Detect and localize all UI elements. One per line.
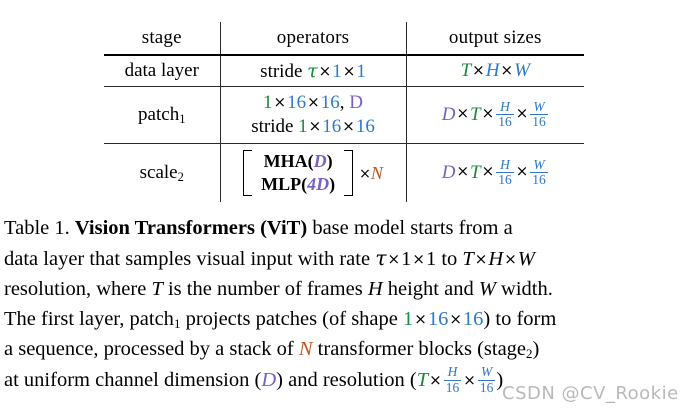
fraction-denominator: 16	[496, 114, 514, 129]
caption-text: is the number of frames	[163, 278, 368, 300]
out-D: D	[442, 161, 456, 182]
transformer-block-bracket: MHA(D) MLP(4D) ×N	[221, 150, 406, 197]
caption-H: H	[368, 278, 383, 300]
table-row: scale2 MHA(D) MLP(4D) ×N D×T×H16×W16	[104, 144, 584, 203]
caption-line-6: at uniform channel dimension (D) and res…	[4, 366, 688, 397]
caption-one: 1	[401, 248, 411, 270]
fraction-numerator: H	[444, 365, 462, 379]
op-16-b: 16	[356, 116, 375, 137]
header-stage: stage	[104, 22, 220, 55]
operators-cell-data-layer: stride τ×1×1	[220, 55, 406, 87]
times-icon: ×	[387, 250, 402, 268]
times-icon: ×	[306, 93, 321, 111]
stage-label-subscript: 1	[179, 112, 185, 126]
caption-16: 16	[463, 308, 484, 330]
times-icon: ×	[342, 62, 357, 80]
caption-text: a sequence, processed by a stack of	[4, 338, 299, 360]
times-icon: ×	[474, 250, 489, 268]
caption-N: N	[299, 338, 313, 360]
bracket-right-icon	[344, 150, 353, 196]
times-icon: ×	[273, 93, 288, 111]
out-T: T	[461, 60, 472, 81]
operators-cell-scale2: MHA(D) MLP(4D) ×N	[220, 144, 406, 203]
times-icon: ×	[455, 162, 470, 180]
caption-text: ) to form	[483, 308, 556, 330]
vit-spec-table: stage operators output sizes data layer …	[104, 22, 584, 202]
out-T: T	[470, 103, 481, 124]
mlp-label: MLP(	[261, 174, 307, 194]
mha-arg-D: D	[314, 151, 327, 171]
stage-label-text: patch	[138, 104, 179, 125]
times-icon: ×	[515, 162, 530, 180]
times-icon: ×	[481, 162, 496, 180]
fraction-numerator: H	[496, 100, 514, 114]
fraction-w-over-16: W16	[478, 365, 496, 394]
out-T: T	[470, 161, 481, 182]
caption-subscript: 2	[526, 346, 533, 361]
operators-cell-patch1: 1×16×16, D stride 1×16×16	[220, 87, 406, 144]
stage-label-text: scale	[140, 162, 178, 183]
mha-close-paren: )	[327, 151, 333, 171]
caption-label: Table 1.	[4, 217, 70, 239]
spec-table-container: stage operators output sizes data layer …	[104, 22, 584, 202]
table-caption: Table 1. Vision Transformers (ViT) base …	[4, 214, 688, 396]
out-D: D	[442, 103, 456, 124]
operators-line-2: stride 1×16×16	[221, 115, 406, 139]
times-icon: ×	[503, 250, 518, 268]
fraction-w-over-16: W16	[530, 158, 548, 187]
caption-H: H	[488, 248, 503, 270]
op-stride-text: stride	[251, 116, 298, 137]
times-icon: ×	[428, 371, 443, 389]
stage-cell-scale2: scale2	[104, 144, 220, 203]
stage-label: scale2	[140, 162, 184, 183]
op-tau: τ	[307, 60, 318, 82]
fraction-denominator: 16	[530, 172, 548, 187]
fraction-denominator: 16	[530, 114, 548, 129]
caption-line-2: data layer that samples visual input wit…	[4, 244, 688, 276]
caption-text: ) and resolution (	[276, 369, 417, 391]
stage-label: data layer	[125, 60, 199, 81]
fraction-numerator: W	[530, 158, 548, 172]
caption-line-1: Table 1. Vision Transformers (ViT) base …	[4, 214, 688, 244]
caption-T: T	[462, 248, 473, 270]
caption-line-3: resolution, where T is the number of fra…	[4, 275, 688, 305]
header-output-sizes: output sizes	[406, 22, 584, 55]
op-one: 1	[298, 116, 308, 137]
stage-label-subscript: 2	[178, 170, 184, 184]
caption-text: height and	[383, 278, 479, 300]
output-cell-scale2: D×T×H16×W16	[406, 144, 584, 203]
caption-T: T	[417, 369, 428, 391]
op-one-a: 1	[332, 61, 342, 82]
caption-W: W	[518, 248, 535, 270]
mlp-arg-4D: 4D	[307, 174, 329, 194]
fraction-w-over-16: W16	[530, 100, 548, 129]
table-row: patch1 1×16×16, D stride 1×16×16 D×T×H16…	[104, 87, 584, 144]
times-icon: ×	[318, 62, 333, 80]
mlp-close-paren: )	[329, 174, 335, 194]
caption-W: W	[479, 278, 496, 300]
fraction-h-over-16: H16	[496, 158, 514, 187]
bracket-contents: MHA(D) MLP(4D)	[256, 150, 340, 197]
caption-one: 1	[403, 308, 413, 330]
caption-16: 16	[428, 308, 449, 330]
caption-one: 1	[426, 248, 436, 270]
mha-line: MHA(D)	[261, 150, 335, 173]
caption-text: )	[533, 338, 540, 360]
output-cell-patch1: D×T×H16×W16	[406, 87, 584, 144]
output-cell-data-layer: T×H×W	[406, 55, 584, 87]
fraction-numerator: W	[478, 365, 496, 379]
op-16-a: 16	[322, 116, 341, 137]
times-icon: ×	[481, 104, 496, 122]
caption-text: width.	[496, 278, 553, 300]
fraction-denominator: 16	[444, 380, 462, 395]
caption-line-1-tail: base model starts from a	[307, 217, 513, 239]
fraction-denominator: 16	[478, 380, 496, 395]
repeat-count: ×N	[357, 163, 383, 184]
caption-text: projects patches (of shape	[180, 308, 403, 330]
caption-text: at uniform channel dimension (	[4, 369, 261, 391]
caption-line-4: The first layer, patch1 projects patches…	[4, 305, 688, 336]
caption-text: data layer that samples visual input wit…	[4, 248, 375, 270]
times-icon: ×	[499, 61, 514, 79]
times-icon: ×	[341, 117, 356, 135]
times-icon: ×	[455, 104, 470, 122]
op-D: D	[349, 92, 363, 113]
caption-text: to	[436, 248, 462, 270]
caption-text: The first layer, patch	[4, 308, 174, 330]
table-header-row: stage operators output sizes	[104, 22, 584, 55]
operators-line-1: 1×16×16, D	[221, 91, 406, 115]
out-W: W	[514, 60, 530, 81]
out-H: H	[486, 60, 500, 81]
caption-line-5: a sequence, processed by a stack of N tr…	[4, 335, 688, 366]
caption-T: T	[151, 278, 162, 300]
stage-cell-patch1: patch1	[104, 87, 220, 144]
caption-tau: τ	[375, 246, 386, 270]
header-operators: operators	[220, 22, 406, 55]
times-icon: ×	[471, 61, 486, 79]
caption-subscript: 1	[174, 316, 181, 331]
caption-text: )	[496, 369, 503, 391]
times-icon: ×	[448, 310, 463, 328]
bracket-left-icon	[243, 150, 252, 196]
times-icon: ×	[359, 166, 371, 182]
mlp-line: MLP(4D)	[261, 173, 335, 196]
caption-bold-title: Vision Transformers (ViT)	[75, 217, 307, 239]
caption-text: resolution, where	[4, 278, 151, 300]
times-icon: ×	[411, 250, 426, 268]
caption-D: D	[261, 369, 276, 391]
times-icon: ×	[462, 371, 477, 389]
op-one-b: 1	[356, 61, 366, 82]
op-stride-text: stride	[260, 61, 307, 82]
fraction-h-over-16: H16	[444, 365, 462, 394]
op-one: 1	[263, 92, 273, 113]
table-row: data layer stride τ×1×1 T×H×W	[104, 55, 584, 87]
fraction-denominator: 16	[496, 172, 514, 187]
op-16-a: 16	[287, 92, 306, 113]
times-icon: ×	[413, 310, 428, 328]
fraction-h-over-16: H16	[496, 100, 514, 129]
fraction-numerator: W	[530, 100, 548, 114]
caption-text: transformer blocks (stage	[313, 338, 526, 360]
fraction-numerator: H	[496, 158, 514, 172]
op-16-b: 16	[321, 92, 340, 113]
stage-cell-data-layer: data layer	[104, 55, 220, 87]
stage-label: patch1	[138, 104, 185, 125]
repeat-N: N	[371, 163, 383, 183]
times-icon: ×	[308, 117, 323, 135]
mha-label: MHA(	[264, 151, 314, 171]
op-comma: ,	[340, 92, 350, 113]
times-icon: ×	[515, 104, 530, 122]
